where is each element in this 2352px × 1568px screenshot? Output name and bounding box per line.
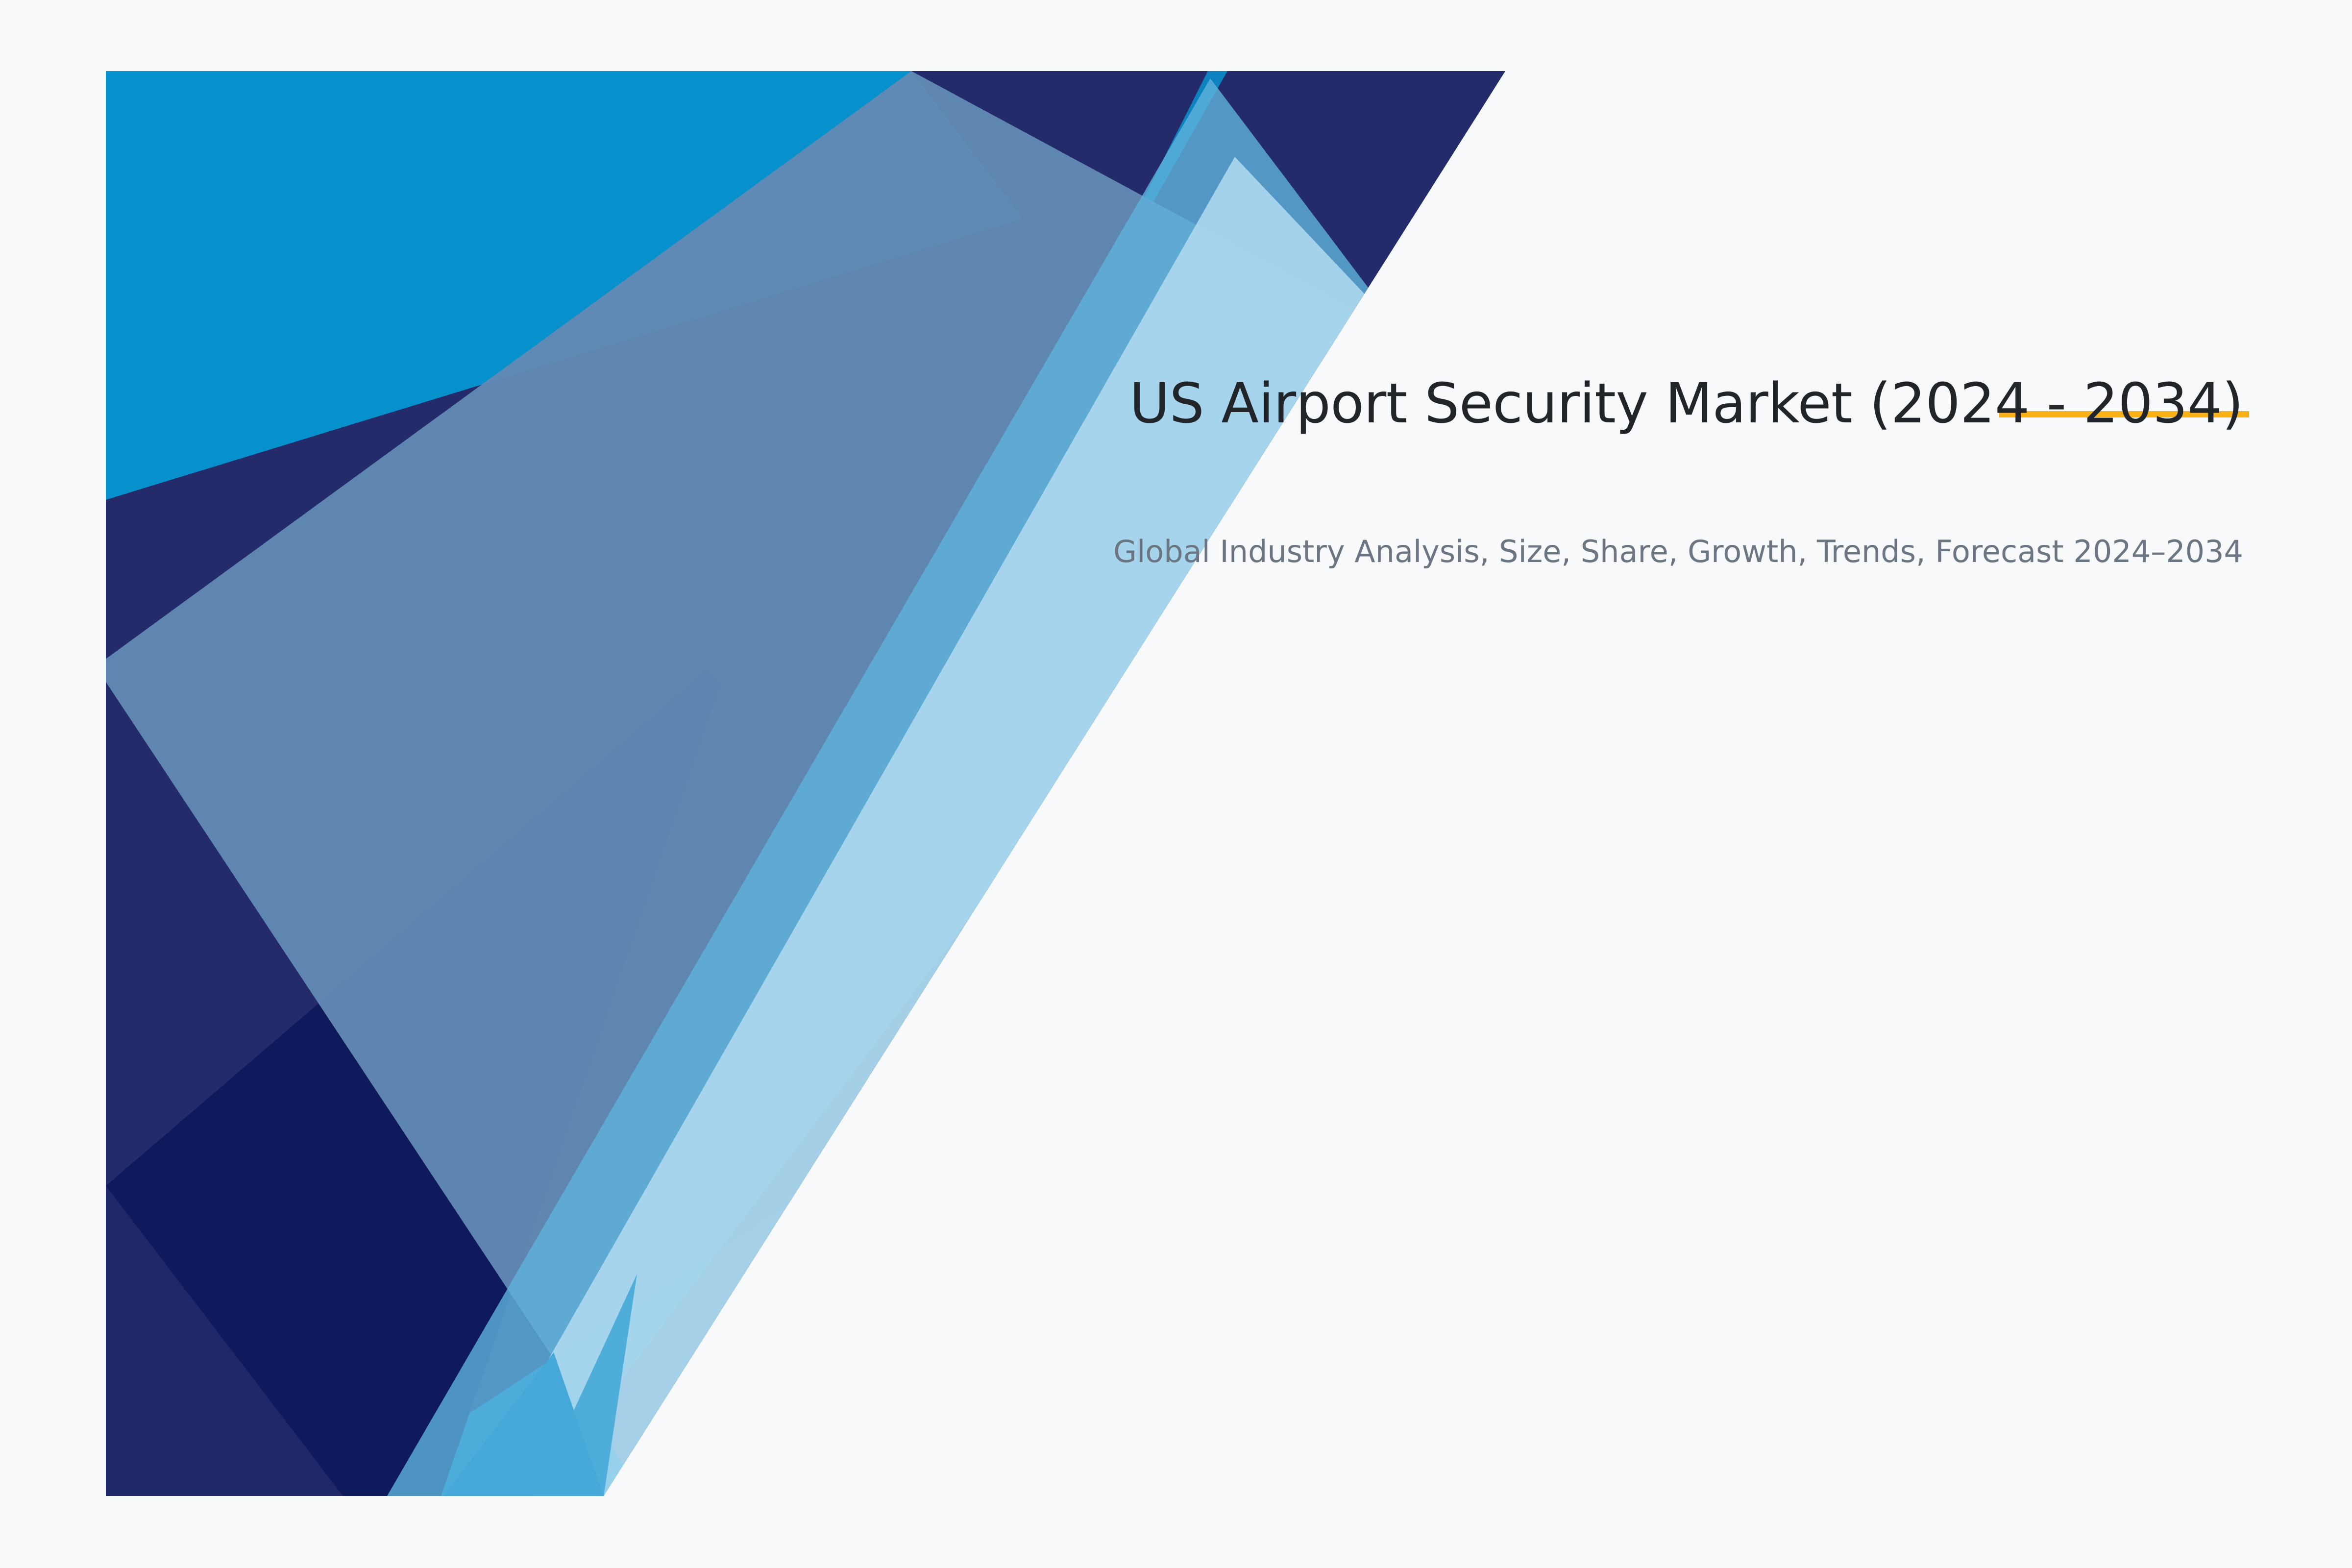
page-title: US Airport Security Market (2024 - 2034): [920, 372, 2243, 436]
shape-cyan-base: [106, 71, 1507, 1497]
shape-cyan-sliver: [1049, 71, 1227, 387]
cover-text-block: US Airport Security Market (2024 - 2034)…: [920, 372, 2243, 572]
abstract-geometric-artwork: [0, 0, 2352, 1568]
shape-deep-navy-lower: [106, 684, 720, 1496]
page-subtitle: Global Industry Analysis, Size, Share, G…: [920, 532, 2243, 572]
shape-mid-blue-right: [534, 1274, 637, 1496]
shape-navy-tint: [106, 1186, 343, 1496]
shape-mid-blue-left: [443, 1352, 604, 1496]
shape-slate-overlay: [96, 71, 1406, 1496]
shape-pale-wedge: [470, 157, 1406, 1496]
shape-sky-wedge: [387, 78, 1406, 1496]
title-wrapper: US Airport Security Market (2024 - 2034): [920, 372, 2243, 436]
shape-navy-main: [106, 71, 1505, 1496]
report-cover-slide: US Airport Security Market (2024 - 2034)…: [0, 0, 2352, 1568]
shape-deep-navy-spike: [106, 671, 720, 1496]
